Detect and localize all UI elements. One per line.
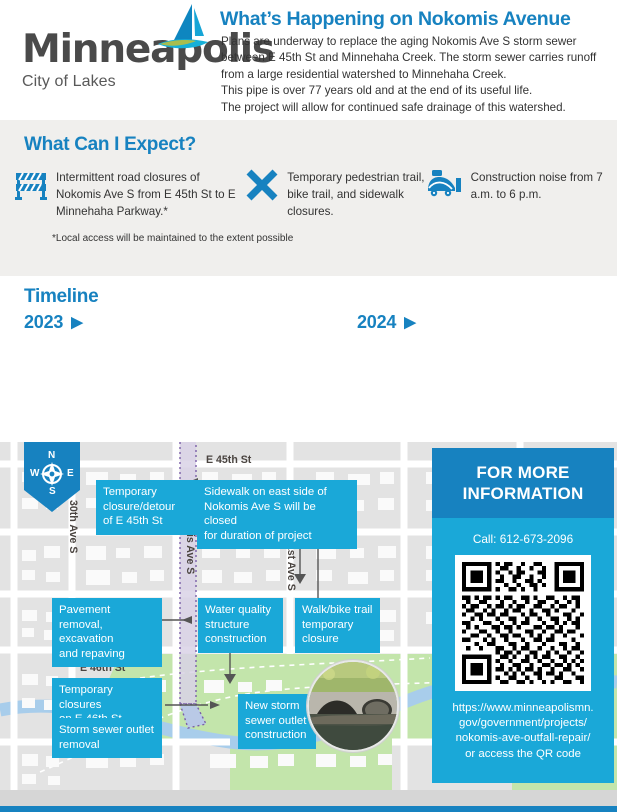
qr-code[interactable] (455, 555, 591, 691)
triangle-right-icon: ▶ (71, 313, 82, 331)
expect-item-label: Temporary pedestrian trail, bike trail, … (287, 168, 424, 220)
compass-label-west: W (30, 468, 39, 479)
sailboat-logo-icon (148, 2, 220, 54)
header-paragraph-1: Plans are underway to replace the aging … (221, 34, 609, 83)
for-more-information-panel: FOR MORE INFORMATION Call: 612-673-2096 (432, 448, 614, 783)
info-phone: Call: 612-673-2096 (432, 532, 614, 546)
expect-items: Intermittent road closures of Nokomis Av… (14, 168, 614, 220)
compass-label-east: E (67, 468, 74, 479)
timeline-year-2023: 2023▶ (24, 312, 83, 333)
callout-pavement-removal[interactable]: Pavement removal, excavation and repavin… (52, 598, 162, 667)
header-paragraph-2: This pipe is over 77 years old and at th… (221, 83, 609, 99)
x-close-icon (245, 168, 279, 207)
timeline-year-label: 2024 (357, 312, 396, 332)
bulldozer-icon (425, 168, 463, 203)
callout-sidewalk-closure[interactable]: Sidewalk on east side of Nokomis Ave S w… (197, 480, 357, 549)
callout-storm-sewer-outlet-removal[interactable]: Storm sewer outlet removal (52, 718, 162, 758)
compass-label-south: S (49, 486, 56, 497)
road-barricade-icon (14, 168, 48, 207)
expect-item-trail-closures: Temporary pedestrian trail, bike trail, … (245, 168, 424, 220)
callout-water-quality-structure[interactable]: Water quality structure construction (198, 598, 283, 653)
expect-item-label: Construction noise from 7 a.m. to 6 p.m. (471, 168, 614, 204)
info-url[interactable]: https://www.minneapolismn. gov/governmen… (432, 701, 614, 763)
timeline-section: Timeline 2023▶ 2024▶ FALL Utility reloca… (0, 278, 617, 442)
footer-grey-band (0, 790, 617, 806)
info-panel-heading: FOR MORE INFORMATION (432, 448, 614, 518)
timeline-year-label: 2023 (24, 312, 63, 332)
callout-temporary-closure-detour[interactable]: Temporary closure/detour of E 45th St (96, 480, 197, 535)
timeline-section-title: Timeline (24, 286, 98, 308)
expect-section-title: What Can I Expect? (24, 134, 196, 156)
logo-tagline: City of Lakes (22, 73, 202, 91)
what-can-i-expect-section: What Can I Expect? Intermittent roa (0, 120, 617, 276)
street-label-30th-ave-s: 30th Ave S (67, 500, 79, 553)
header: Minneapolis City of Lakes What’s Happeni… (0, 0, 617, 118)
callout-walk-bike-trail-closure[interactable]: Walk/bike trail temporary closure (295, 598, 380, 653)
callout-new-storm-sewer-outlet[interactable]: New storm sewer outlet construction (238, 694, 316, 749)
expect-item-road-closures: Intermittent road closures of Nokomis Av… (14, 168, 245, 220)
triangle-right-icon: ▶ (404, 313, 415, 331)
header-paragraph-3: The project will allow for continued saf… (221, 100, 609, 116)
expect-footnote: *Local access will be maintained to the … (52, 233, 293, 244)
footer-blue-band (0, 806, 617, 812)
timeline-year-2024: 2024▶ (357, 312, 416, 333)
culvert-outfall-photo (307, 660, 399, 752)
page-title: What’s Happening on Nokomis Avenue (220, 8, 610, 31)
expect-item-construction-noise: Construction noise from 7 a.m. to 6 p.m. (425, 168, 614, 220)
expect-item-label: Intermittent road closures of Nokomis Av… (56, 168, 245, 220)
street-label-e-45th-st: E 45th St (206, 454, 251, 466)
infographic-page: Minneapolis City of Lakes What’s Happeni… (0, 0, 617, 812)
header-body: Plans are underway to replace the aging … (221, 34, 609, 116)
compass-label-north: N (48, 450, 55, 461)
qr-code-icon (462, 562, 584, 684)
